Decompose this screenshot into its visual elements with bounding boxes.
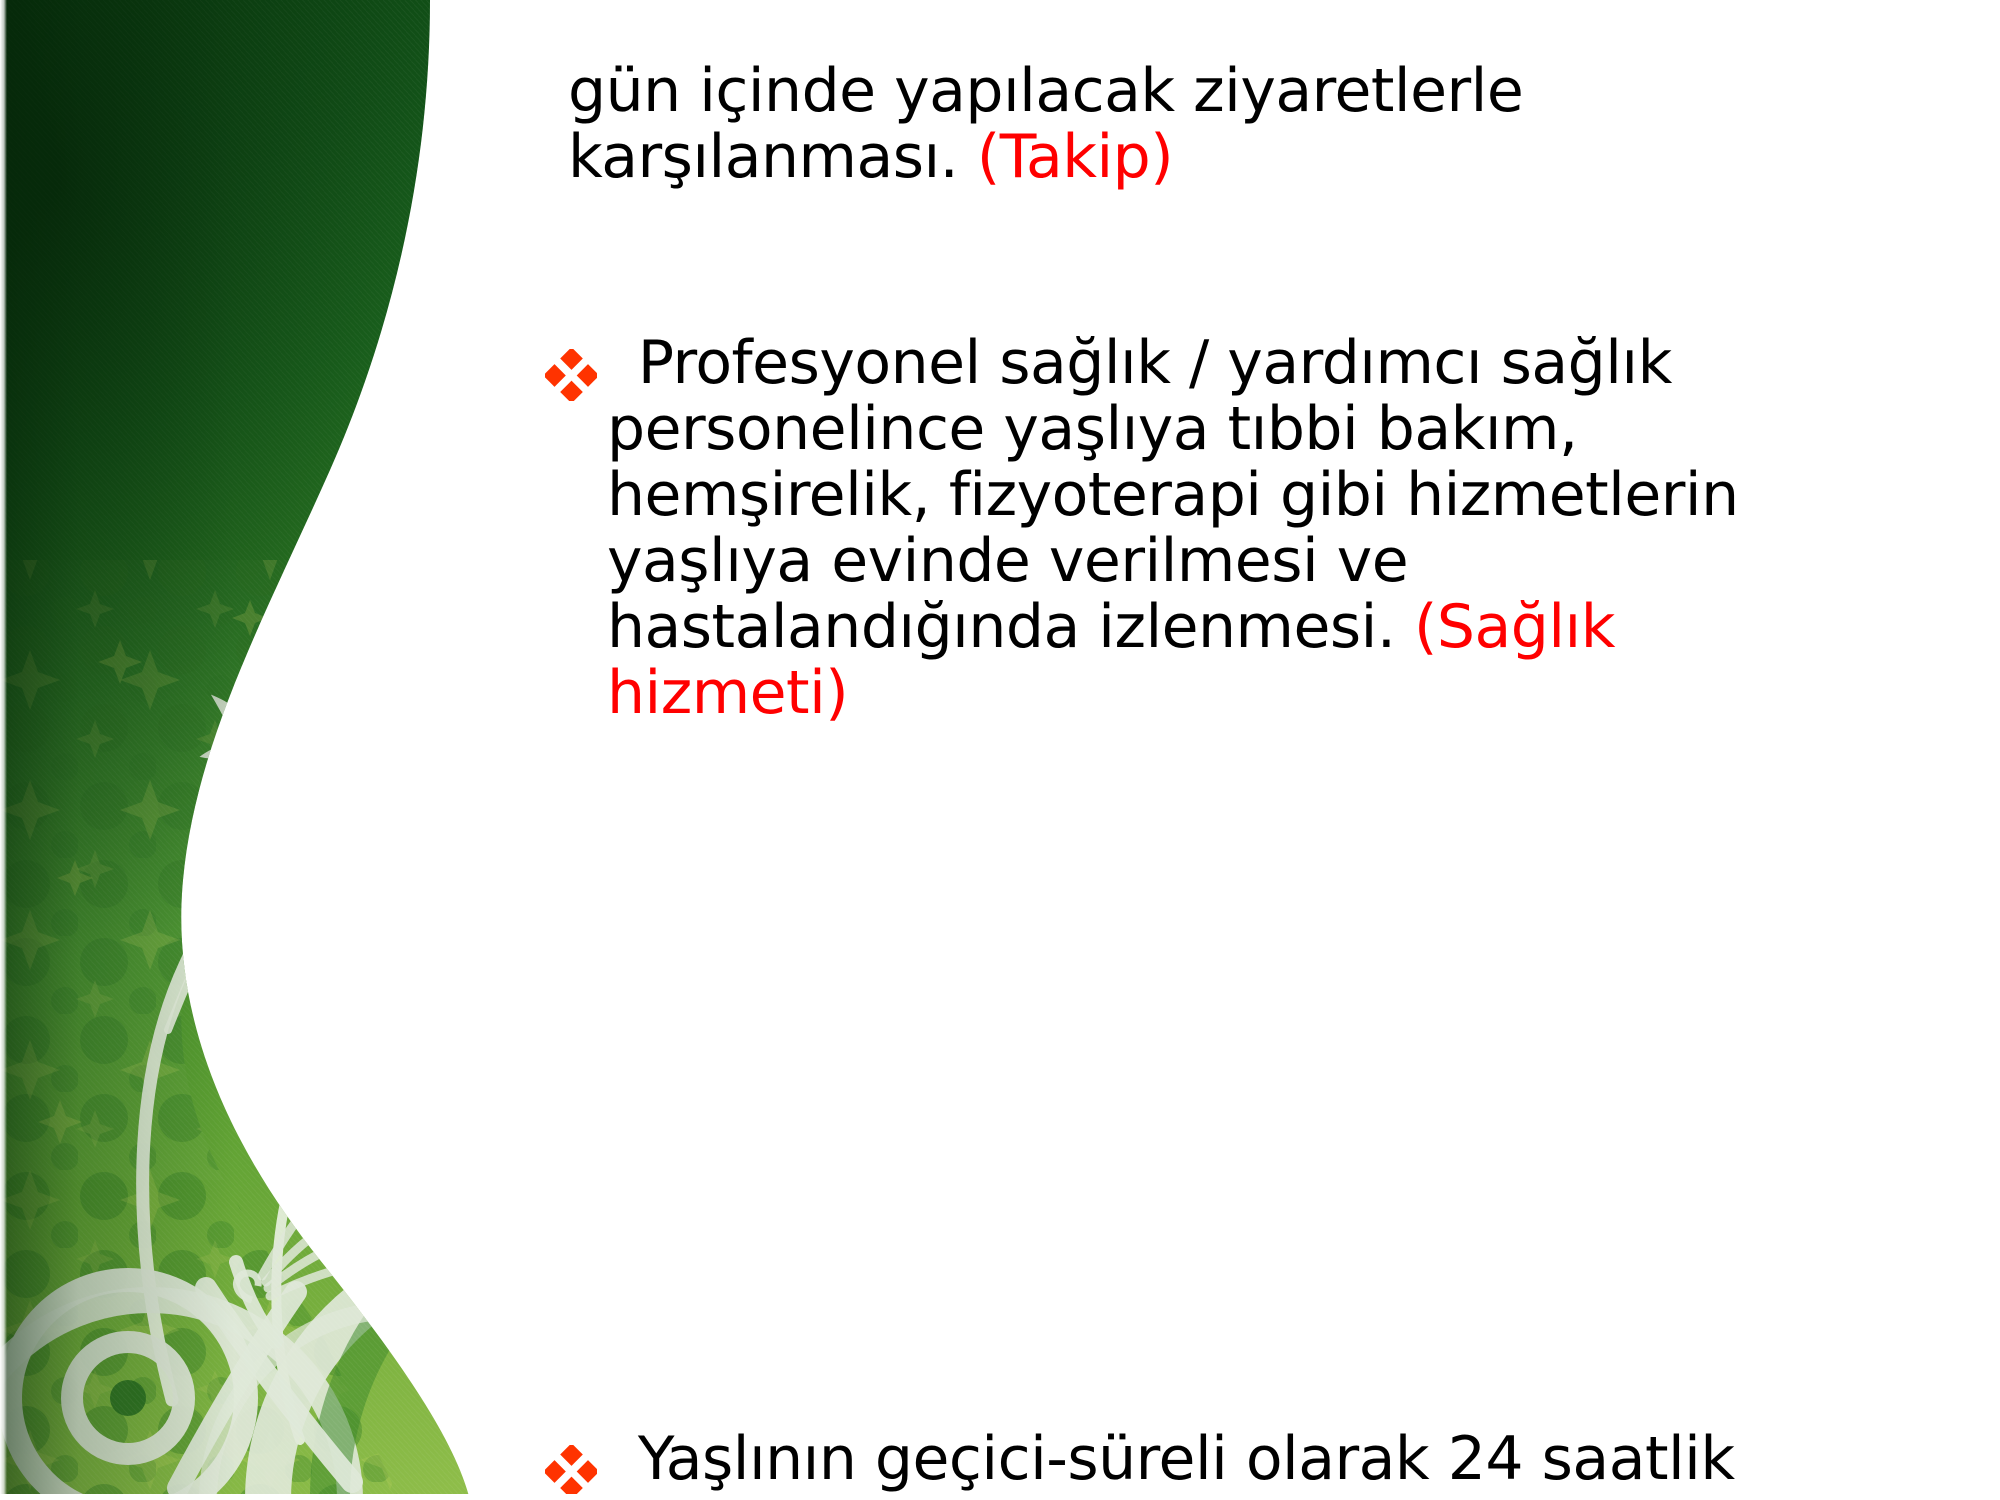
diamond-cluster-bullet-icon [545,1444,597,1496]
intro-line-1: gün içinde yapılacak ziyaretlerle [568,56,1523,126]
slide-canvas: gün içinde yapılacak ziyaretlerle karşıl… [0,0,2000,1500]
sidebar-rim-light [0,0,560,1500]
intro-line-2-highlight: (Takip) [977,122,1173,192]
slide-bottom-edge [0,1494,2000,1500]
paragraph-intro: gün içinde yapılacak ziyaretlerle karşıl… [568,58,1898,190]
slide-body: gün içinde yapılacak ziyaretlerle karşıl… [545,0,1945,1500]
diamond-cluster-bullet-icon [545,348,597,400]
paragraph-bullet-2: Yaşlının geçici-süreli olarak 24 saatlik… [545,1426,1795,1500]
paragraph-bullet-1: Profesyonel sağlık / yardımcı sağlık per… [545,330,1795,726]
intro-line-2-black: karşılanması. [568,122,977,192]
bullet-2-text: Yaşlının geçici-süreli olarak 24 saatlik… [607,1424,1764,1500]
sidebar-left-edge [0,0,7,1500]
green-floral-sidebar [0,0,560,1500]
